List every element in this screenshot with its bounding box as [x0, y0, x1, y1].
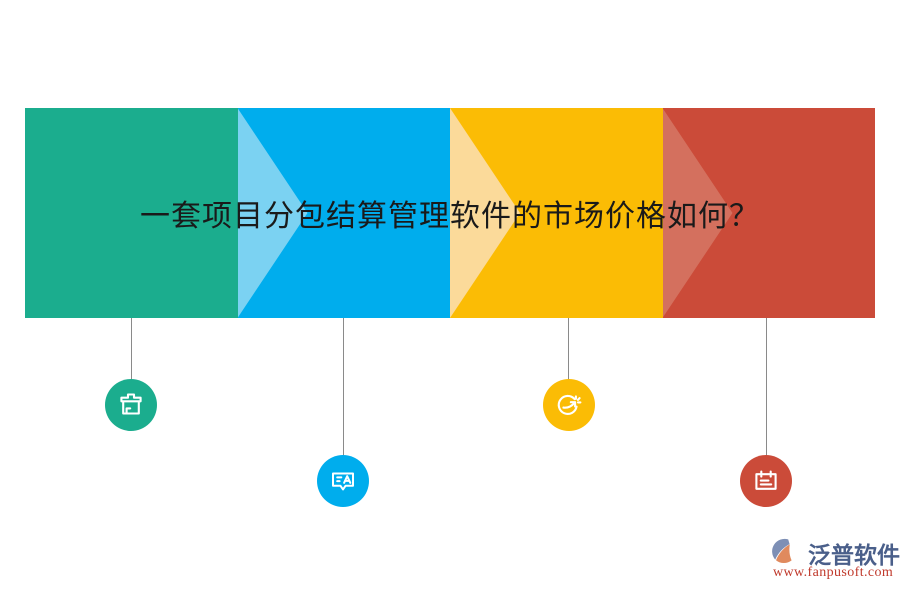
brand-logo: 泛普软件 www.fanpusoft.com	[772, 536, 890, 586]
node-translate[interactable]	[317, 455, 369, 507]
segment-wedge-red	[663, 108, 733, 318]
store-icon	[116, 390, 146, 420]
growth-icon	[554, 390, 584, 420]
segment-wedge-yellow	[450, 108, 520, 318]
segment-wedge-blue	[238, 108, 308, 318]
node-note[interactable]	[740, 455, 792, 507]
logo-website-url: www.fanpusoft.com	[773, 565, 893, 581]
banner-segment-green	[25, 108, 238, 318]
translate-icon	[328, 466, 358, 496]
banner-segment-red	[663, 108, 876, 318]
slide-canvas: 一套项目分包结算管理软件的市场价格如何？	[0, 0, 900, 600]
node-growth[interactable]	[543, 379, 595, 431]
node-store[interactable]	[105, 379, 157, 431]
banner-segment-yellow	[450, 108, 663, 318]
banner-segment-blue	[238, 108, 451, 318]
chevron-banner	[25, 108, 875, 318]
note-icon	[751, 466, 781, 496]
